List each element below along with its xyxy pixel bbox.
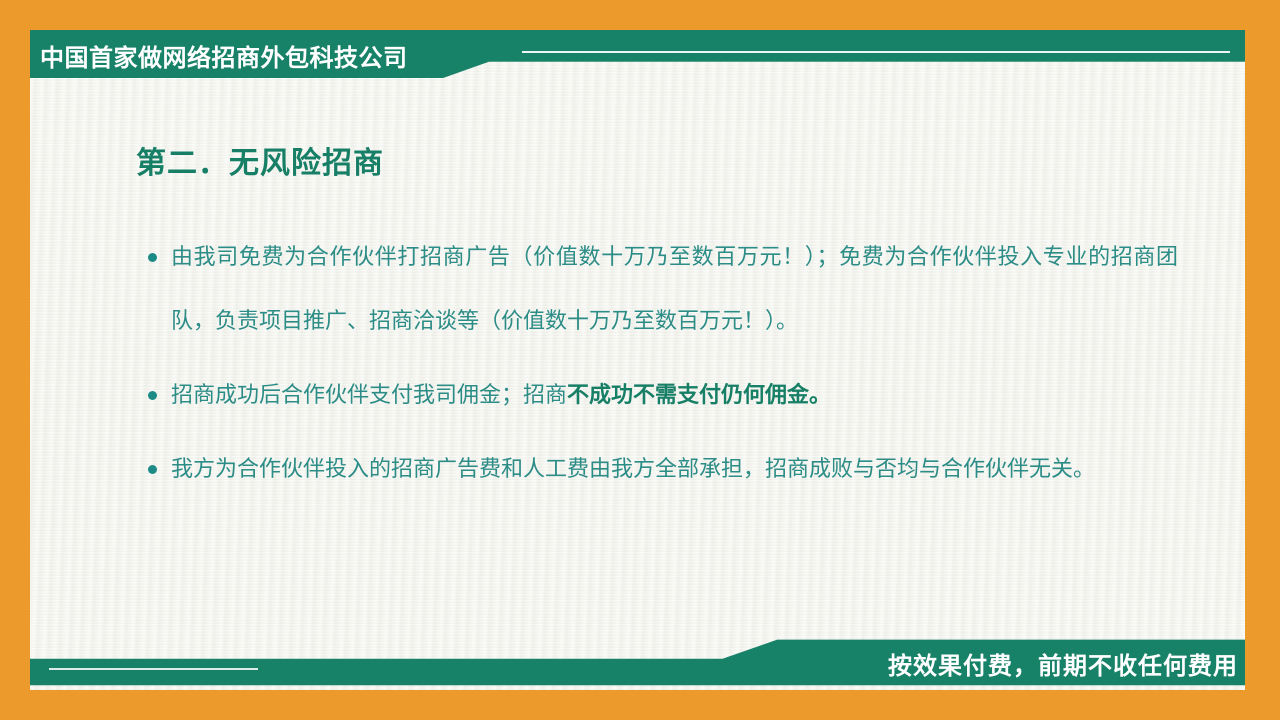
list-item-text: 招商成功后合作伙伴支付我司佣金；招商 <box>171 383 567 408</box>
list-item: 招商成功后合作伙伴支付我司佣金；招商不成功不需支付仍何佣金。 <box>143 364 1178 428</box>
footer-banner-accent-line <box>49 668 258 670</box>
bullet-dot-icon <box>148 253 157 262</box>
list-item-text: 由我司免费为合作伙伴打招商广告（价值数十万乃至数百万元！）；免费为合作伙伴投入专… <box>171 245 1178 334</box>
header-banner-accent-line <box>522 51 1230 53</box>
list-item: 由我司免费为合作伙伴打招商广告（价值数十万乃至数百万元！）；免费为合作伙伴投入专… <box>143 226 1178 354</box>
header-banner-text: 中国首家做网络招商外包科技公司 <box>40 38 408 73</box>
list-item-text: 我方为合作伙伴投入的招商广告费和人工费由我方全部承担，招商成败与否均与合作伙伴无… <box>171 457 1095 482</box>
bullet-dot-icon <box>148 465 157 474</box>
page-title: 第二．无风险招商 <box>136 138 384 182</box>
bullet-dot-icon <box>148 391 157 400</box>
bullet-list: 由我司免费为合作伙伴打招商广告（价值数十万乃至数百万元！）；免费为合作伙伴投入专… <box>143 226 1178 512</box>
list-item-emphasis: 不成功不需支付仍何佣金。 <box>567 383 831 408</box>
list-item: 我方为合作伙伴投入的招商广告费和人工费由我方全部承担，招商成败与否均与合作伙伴无… <box>143 438 1178 502</box>
footer-tagline: 按效果付费，前期不收任何费用 <box>888 646 1238 681</box>
slide-canvas: 中国首家做网络招商外包科技公司 第二．无风险招商 由我司免费为合作伙伴打招商广告… <box>0 0 1280 720</box>
